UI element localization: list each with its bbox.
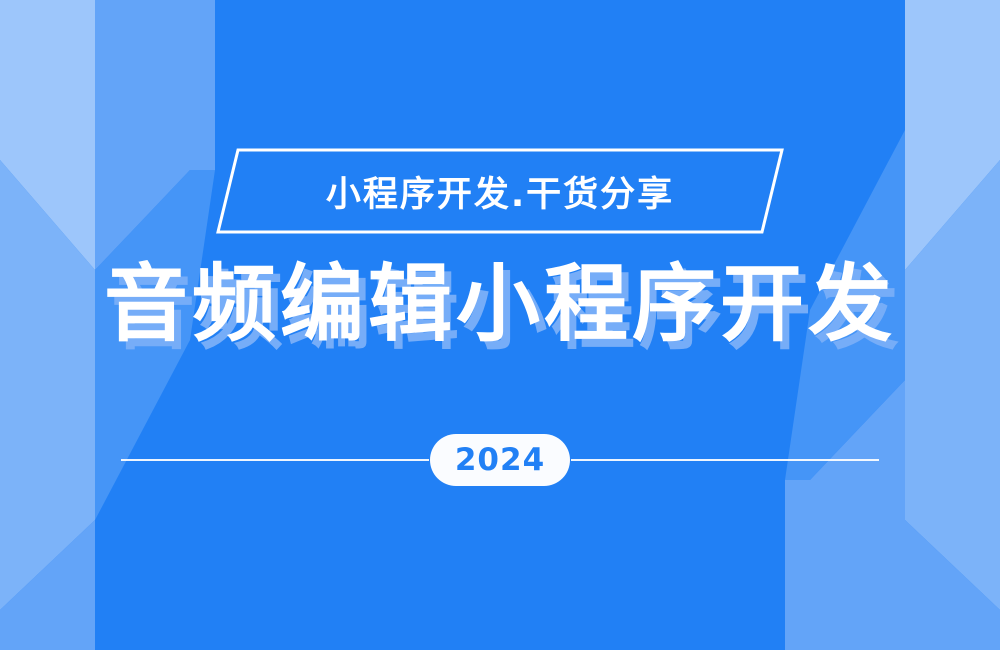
- divider-line-left: [121, 459, 429, 461]
- promo-banner: 小程序开发.干货分享 音频编辑小程序开发 2024: [0, 0, 1000, 650]
- year-row: 2024: [0, 432, 1000, 488]
- shape-right-column-bottom: [905, 520, 1000, 650]
- shape-left-column-mid: [0, 160, 95, 610]
- shape-right-column-mid: [905, 160, 1000, 610]
- year-badge: 2024: [430, 434, 570, 486]
- banner-subtitle: 小程序开发.干货分享: [210, 146, 790, 236]
- banner-title: 音频编辑小程序开发: [0, 262, 1000, 346]
- subtitle-parallelogram: 小程序开发.干货分享: [210, 146, 790, 236]
- shape-right-wedge-lower: [785, 480, 810, 650]
- shape-left-column-top: [0, 0, 95, 270]
- shape-right-band-bottom: [810, 380, 905, 650]
- shape-left-column-bottom: [0, 520, 95, 650]
- shape-left-band-top: [95, 0, 190, 270]
- divider-line-right: [571, 459, 879, 461]
- shape-right-column-top: [905, 0, 1000, 270]
- shape-left-wedge-upper: [190, 0, 215, 170]
